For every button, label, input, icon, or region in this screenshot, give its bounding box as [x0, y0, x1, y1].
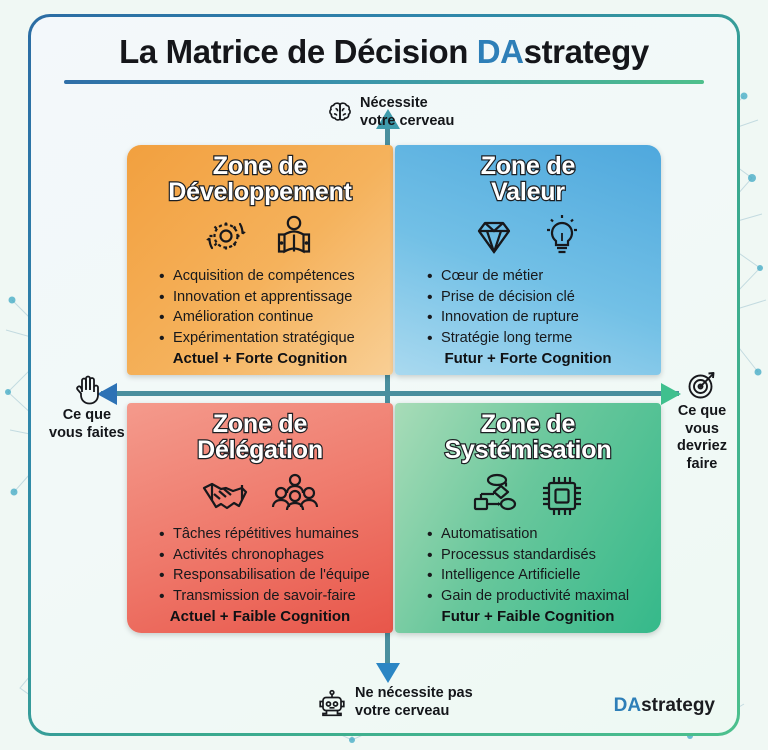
hand-icon [72, 373, 102, 405]
cpu-chip-icon [538, 472, 586, 516]
list-item: Prise de décision clé [441, 287, 649, 308]
quadrant-icons [470, 470, 586, 518]
quadrant-list: Tâches répétitives humaines Activités ch… [139, 524, 381, 607]
list-item: Intelligence Artificielle [441, 565, 649, 586]
team-group-icon [270, 472, 320, 516]
list-item: Transmission de savoir-faire [173, 586, 381, 607]
horizontal-axis [101, 391, 679, 396]
quadrant-title: Zone de Valeur [481, 154, 575, 205]
arrow-down-icon [376, 663, 400, 683]
list-item: Activités chronophages [173, 545, 381, 566]
open-book-icon [270, 214, 318, 258]
quadrant-valeur[interactable]: Zone de Valeur Cœur de métier Prise [395, 145, 661, 375]
robot-icon [317, 688, 347, 718]
axis-caption-bottom: Ne nécessite pas votre cerveau [317, 685, 473, 720]
list-item: Innovation et apprentissage [173, 287, 381, 308]
quadrant-list: Cœur de métier Prise de décision clé Inn… [407, 266, 649, 349]
footer-logo: DAstrategy [614, 695, 715, 717]
quadrant-list: Acquisition de compétences Innovation et… [139, 266, 381, 349]
quadrant-title: Zone de Développement [168, 154, 352, 205]
list-item: Gain de productivité maximal [441, 586, 649, 607]
list-item: Processus standardisés [441, 545, 649, 566]
lightbulb-icon [538, 214, 586, 258]
quadrant-footer: Actuel + Forte Cognition [173, 350, 348, 367]
axis-caption-left: Ce que vous faites [49, 373, 125, 442]
quadrant-title: Zone de Délégation [197, 412, 323, 463]
list-item: Innovation de rupture [441, 307, 649, 328]
quadrant-icons [200, 470, 320, 518]
list-item: Amélioration continue [173, 307, 381, 328]
handshake-icon [200, 472, 250, 516]
list-item: Tâches répétitives humaines [173, 524, 381, 545]
axis-caption-right-text: Ce que vous devriez faire [661, 403, 737, 474]
brain-icon [327, 100, 353, 126]
axis-caption-top-text: Nécessite votre cerveau [360, 95, 454, 130]
list-item: Cœur de métier [441, 266, 649, 287]
gear-refresh-icon [202, 214, 250, 258]
quadrant-title: Zone de Systémisation [445, 412, 612, 463]
list-item: Automatisation [441, 524, 649, 545]
quadrant-delegation[interactable]: Zone de Délégation [127, 403, 393, 633]
quadrant-footer: Futur + Forte Cognition [444, 350, 611, 367]
target-icon [686, 369, 718, 401]
footer-logo-strategy: strategy [641, 695, 715, 716]
quadrant-icons [470, 212, 586, 260]
quadrant-list: Automatisation Processus standardisés In… [407, 524, 649, 607]
list-item: Expérimentation stratégique [173, 328, 381, 349]
quadrant-icons [202, 212, 318, 260]
quadrant-systemisation[interactable]: Zone de Systémisation [395, 403, 661, 633]
quadrant-footer: Futur + Faible Cognition [442, 608, 615, 625]
poster-frame: La Matrice de Décision DAstrategy Zone d… [28, 14, 740, 736]
flowchart-icon [470, 472, 518, 516]
axis-caption-bottom-text: Ne nécessite pas votre cerveau [355, 685, 473, 720]
decision-matrix: Zone de Développement [31, 17, 737, 733]
axis-caption-right: Ce que vous devriez faire [661, 369, 737, 474]
footer-logo-da: DA [614, 695, 641, 716]
quadrant-developpement[interactable]: Zone de Développement [127, 145, 393, 375]
axis-caption-top: Nécessite votre cerveau [327, 95, 454, 130]
axis-caption-left-text: Ce que vous faites [49, 407, 125, 442]
quadrant-footer: Actuel + Faible Cognition [170, 608, 350, 625]
list-item: Responsabilisation de l'équipe [173, 565, 381, 586]
diamond-icon [470, 214, 518, 258]
list-item: Acquisition de compétences [173, 266, 381, 287]
list-item: Stratégie long terme [441, 328, 649, 349]
